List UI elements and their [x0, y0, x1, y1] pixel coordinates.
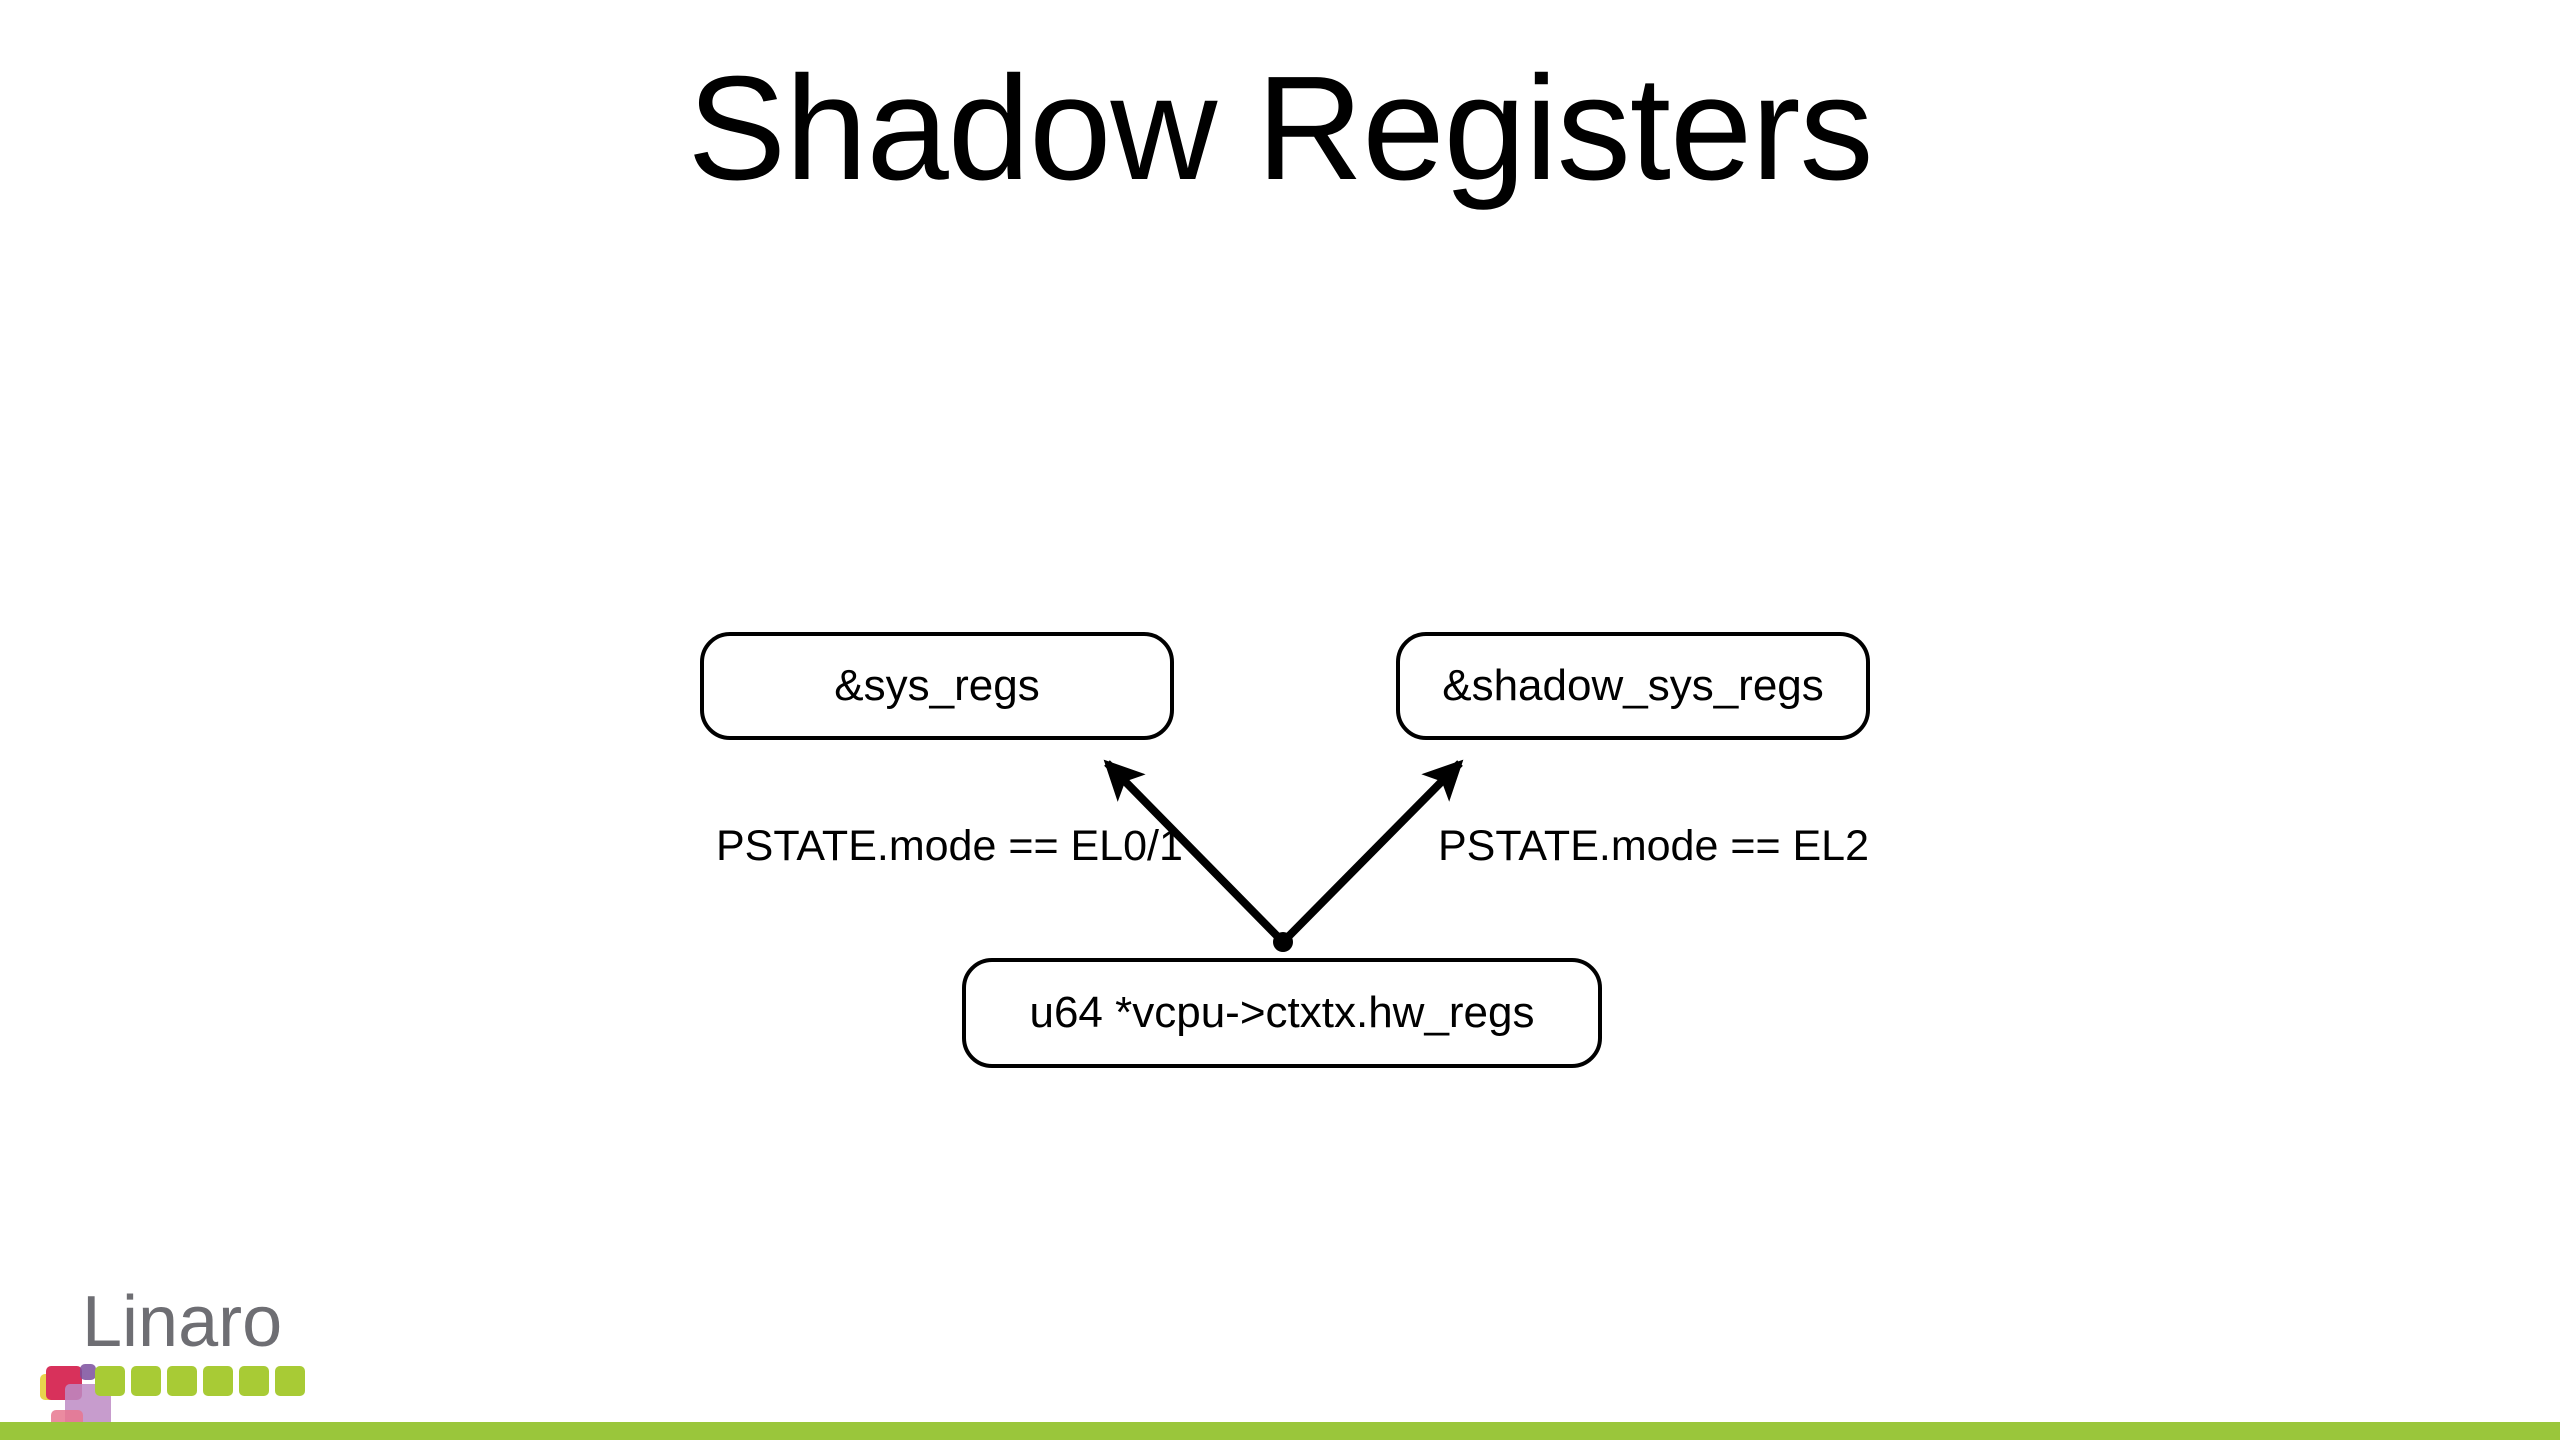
linaro-logo: Linaro	[40, 1292, 340, 1422]
node-sys-regs-label: &sys_regs	[834, 661, 1039, 711]
node-shadow-sys-regs[interactable]: &shadow_sys_regs	[1396, 632, 1870, 740]
node-hw-regs-label: u64 *vcpu->ctxtx.hw_regs	[1029, 988, 1534, 1038]
logo-square-green-6	[275, 1366, 305, 1396]
logo-square-purple-dark	[80, 1364, 96, 1380]
slide-canvas: Shadow Registers &sys_regs &shadow_sys_r…	[0, 0, 2560, 1440]
node-sys-regs[interactable]: &sys_regs	[700, 632, 1174, 740]
logo-square-green-5	[239, 1366, 269, 1396]
edge-label-pstate-el2: PSTATE.mode == EL2	[1438, 822, 1869, 871]
logo-square-green-4	[203, 1366, 233, 1396]
edge-junction-dot	[1273, 932, 1293, 952]
footer-accent-bar	[0, 1422, 2560, 1440]
logo-square-green-3	[167, 1366, 197, 1396]
diagram: &sys_regs &shadow_sys_regs u64 *vcpu->ct…	[0, 0, 2560, 1440]
logo-square-green-2	[131, 1366, 161, 1396]
edge-label-pstate-el01: PSTATE.mode == EL0/1	[716, 822, 1183, 871]
logo-square-green-1	[95, 1366, 125, 1396]
node-shadow-sys-regs-label: &shadow_sys_regs	[1442, 661, 1824, 711]
diagram-connectors	[0, 0, 2560, 1440]
node-hw-regs[interactable]: u64 *vcpu->ctxtx.hw_regs	[962, 958, 1602, 1068]
edge-hw-regs-to-shadow-sys-regs	[1283, 763, 1460, 942]
linaro-wordmark: Linaro	[82, 1286, 282, 1358]
